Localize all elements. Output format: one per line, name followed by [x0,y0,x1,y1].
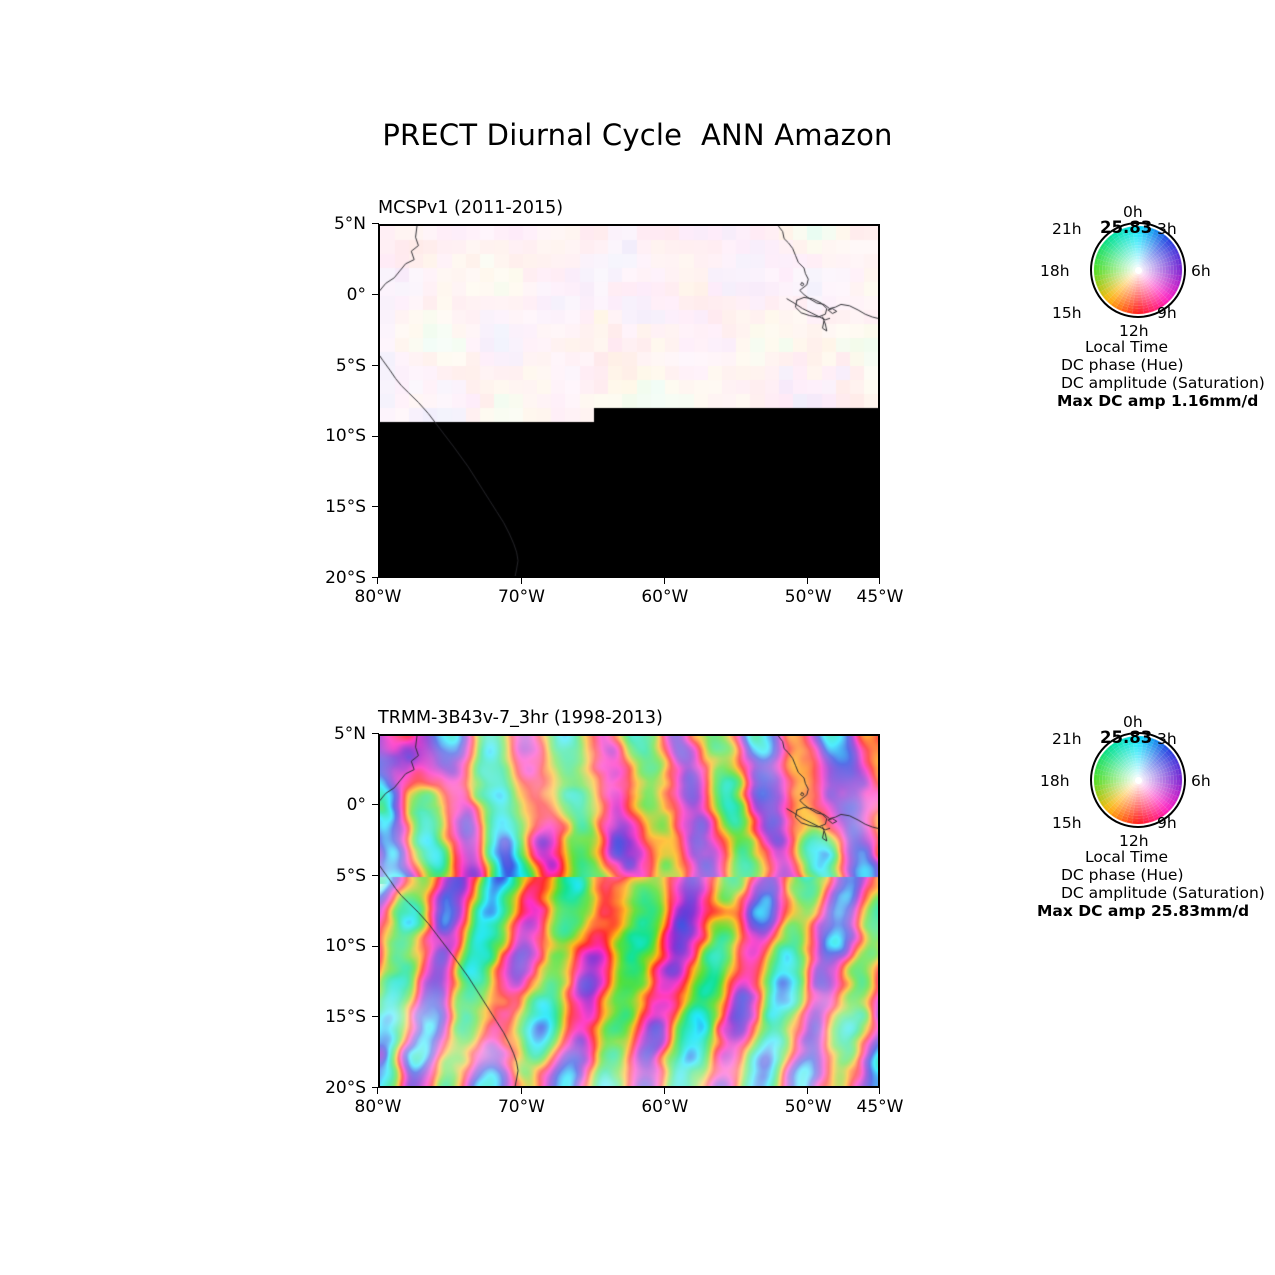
y-tick-label: 5°N [300,214,366,234]
map-image-trmm [380,736,878,1086]
wheel-overlay-value: 25.83 [1100,218,1152,237]
x-tick [664,1087,665,1094]
x-tick-label: 60°W [641,587,688,607]
y-tick-label: 15°S [300,1007,366,1027]
y-tick [372,436,379,437]
wheel-label-3h: 3h [1157,730,1177,748]
legend-mcspv1: 0h 25.83 3h 6h 9h 12h 15h 18h 21h Local … [1035,200,1265,415]
wheel-label-9h: 9h [1157,304,1177,322]
wheel-label-15h: 15h [1052,814,1082,832]
wheel-label-6h: 6h [1191,262,1211,280]
x-tick-label: 60°W [641,1097,688,1117]
legend-trmm: 0h 25.83 3h 6h 9h 12h 15h 18h 21h Local … [1035,710,1265,925]
wheel-label-21h: 21h [1052,220,1082,238]
map-image-mcspv1 [380,226,878,576]
wheel-label-6h: 6h [1191,772,1211,790]
y-tick [372,294,379,295]
y-tick-label: 0° [300,285,366,305]
x-tick [664,577,665,584]
x-tick-label: 45°W [857,587,904,607]
y-tick-label: 20°S [300,568,366,588]
y-tick-label: 10°S [300,936,366,956]
color-wheel-hub [1135,777,1142,784]
y-tick-label: 20°S [300,1078,366,1098]
panel-trmm: TRMM-3B43v-7_3hr (1998-2013) [378,734,880,1088]
map-axes-mcspv1[interactable] [378,224,880,578]
x-tick-label: 50°W [785,587,832,607]
x-tick-label: 70°W [498,1097,545,1117]
color-wheel-hub [1135,267,1142,274]
legend-caption-local-time: Local Time [1085,848,1168,866]
x-tick [879,577,880,584]
legend-caption-amplitude: DC amplitude (Saturation) [1061,884,1265,902]
figure-root: PRECT Diurnal Cycle ANN Amazon MCSPv1 (2… [0,0,1275,1275]
x-tick-label: 70°W [498,587,545,607]
y-tick-label: 0° [300,795,366,815]
x-tick [521,1087,522,1094]
panel-title-mcspv1: MCSPv1 (2011-2015) [378,198,563,218]
figure-title: PRECT Diurnal Cycle ANN Amazon [0,118,1275,152]
wheel-label-18h: 18h [1040,772,1070,790]
x-tick-label: 80°W [355,587,402,607]
y-tick [372,875,379,876]
x-tick [521,577,522,584]
legend-caption-phase: DC phase (Hue) [1061,356,1184,374]
y-tick [372,1016,379,1017]
y-tick [372,1087,379,1088]
panel-title-trmm: TRMM-3B43v-7_3hr (1998-2013) [378,708,663,728]
y-tick [372,733,379,734]
wheel-label-18h: 18h [1040,262,1070,280]
y-tick-label: 10°S [300,426,366,446]
y-tick [372,946,379,947]
legend-caption-amplitude: DC amplitude (Saturation) [1061,374,1265,392]
y-tick [372,577,379,578]
panel-mcspv1: MCSPv1 (2011-2015) [378,224,880,578]
x-tick [807,1087,808,1094]
y-tick [372,223,379,224]
y-tick-label: 5°N [300,724,366,744]
map-axes-trmm[interactable] [378,734,880,1088]
x-tick-label: 80°W [355,1097,402,1117]
x-tick-label: 45°W [857,1097,904,1117]
wheel-label-9h: 9h [1157,814,1177,832]
legend-caption-phase: DC phase (Hue) [1061,866,1184,884]
y-tick-label: 5°S [300,356,366,376]
legend-caption-local-time: Local Time [1085,338,1168,356]
y-tick [372,506,379,507]
wheel-label-15h: 15h [1052,304,1082,322]
legend-caption-max-amp: Max DC amp 25.83mm/d [1037,902,1249,920]
y-tick [372,365,379,366]
y-tick [372,804,379,805]
x-tick [879,1087,880,1094]
x-tick [807,577,808,584]
wheel-overlay-value: 25.83 [1100,728,1152,747]
y-tick-label: 15°S [300,497,366,517]
x-tick-label: 50°W [785,1097,832,1117]
wheel-label-21h: 21h [1052,730,1082,748]
legend-caption-max-amp: Max DC amp 1.16mm/d [1057,392,1258,410]
y-tick-label: 5°S [300,866,366,886]
wheel-label-3h: 3h [1157,220,1177,238]
